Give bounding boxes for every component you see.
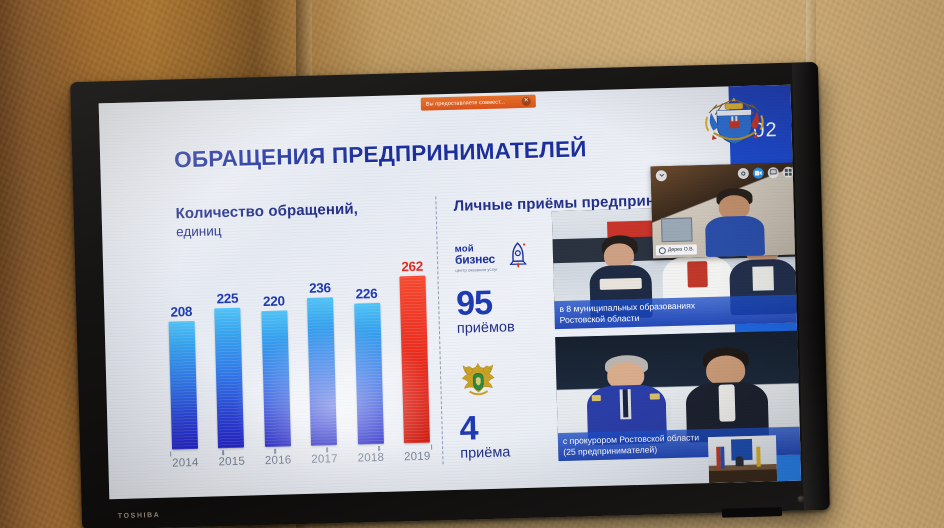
- chart-bar-value: 262: [401, 259, 423, 275]
- video-participant: [704, 187, 765, 257]
- logo-subtitle: центр оказания услуг: [455, 267, 498, 273]
- moy-biznes-logo-text: мой бизнес центр оказания услуг: [455, 243, 498, 273]
- chart-bar: [169, 321, 198, 450]
- video-camera-icon[interactable]: [753, 167, 764, 178]
- inset-desk: [709, 469, 777, 483]
- bar-chart: 208225220236226262 201420152016201720182…: [165, 245, 433, 484]
- grid-view-icon[interactable]: [783, 166, 794, 177]
- stat-caption: приёма: [460, 445, 511, 462]
- video-participant-name-tag: Дерез О.В.: [656, 244, 698, 255]
- chart-tick: [378, 446, 380, 451]
- slide-title: ОБРАЩЕНИЯ ПРЕДПРИНИМАТЕЛЕЙ: [174, 136, 587, 173]
- stat-number: 95: [456, 286, 531, 320]
- chart-bar-value: 220: [263, 293, 285, 309]
- rostov-coat-of-arms-icon: [703, 91, 767, 151]
- chart-bar-group: 225: [211, 250, 246, 449]
- moy-biznes-logo: мой бизнес центр оказания услуг: [455, 242, 530, 280]
- stat-caption: приёмов: [457, 319, 531, 337]
- chart-tick: [326, 447, 328, 452]
- tv-brand-label: TOSHIBA: [118, 512, 161, 520]
- chart-tick: [222, 450, 224, 455]
- chart-bar-value: 236: [309, 280, 331, 296]
- screen-share-text: Вы предоставляете совмест...: [426, 98, 522, 107]
- mic-status-icon: [659, 247, 666, 254]
- logo-line2: бизнес: [455, 252, 498, 267]
- participant-name: Дерез О.В.: [668, 246, 694, 253]
- tv-mount: [722, 507, 782, 518]
- chevron-down-icon[interactable]: [656, 170, 667, 181]
- chart-tick: [170, 452, 172, 457]
- left-heading-line1: Количество обращений,: [175, 200, 358, 222]
- video-call-window[interactable]: Дерез О.В.: [651, 163, 801, 259]
- inset-photo-press-conference: [708, 435, 777, 483]
- stat-block-prosecutor: 4 приёма: [458, 360, 511, 462]
- panel-divider: [435, 196, 443, 464]
- room-background: TOSHIBA 02 ro.ru: [0, 0, 944, 528]
- chart-bar-group: 236: [304, 247, 339, 446]
- chart-x-label: 2018: [356, 452, 386, 465]
- chart-bars: 208225220236226262: [165, 245, 432, 450]
- inset-speaker: [736, 456, 744, 466]
- chart-bar-group: 262: [397, 245, 432, 444]
- chart-bar: [399, 276, 430, 444]
- chart-tick: [274, 449, 276, 454]
- chart-bar-value: 208: [170, 304, 192, 320]
- chart-bar-value: 226: [355, 286, 377, 302]
- gear-icon[interactable]: [738, 167, 749, 178]
- chart-x-label: 2015: [217, 456, 247, 469]
- chart-bar: [261, 310, 291, 447]
- chart-bar-group: 226: [350, 246, 385, 445]
- chart-x-label: 2014: [170, 457, 200, 470]
- chart-tick: [431, 445, 433, 450]
- chart-bar: [215, 308, 245, 449]
- chart-bar-group: 220: [257, 248, 292, 447]
- chart-x-label: 2017: [309, 453, 339, 466]
- chart-bar-value: 225: [216, 291, 238, 307]
- prokuratura-emblem-icon: [458, 361, 499, 400]
- stat-block-moy-biznes: мой бизнес центр оказания услуг 95 приём…: [455, 242, 531, 337]
- wall-picture: [661, 217, 693, 242]
- chart-bar-group: 208: [165, 251, 200, 450]
- tv-screen: 02 ro.ru: [99, 85, 801, 500]
- wall-mounted-tv: TOSHIBA 02 ro.ru: [70, 62, 830, 528]
- rocket-icon: [509, 242, 528, 269]
- chart-bar: [307, 297, 337, 446]
- left-heading-line2: единиц: [176, 219, 359, 239]
- screen-share-notification[interactable]: Вы предоставляете совмест... ✕: [421, 95, 536, 111]
- close-icon[interactable]: ✕: [522, 97, 531, 106]
- stat-number: 4: [459, 411, 510, 445]
- inset-flag-gold: [756, 447, 761, 467]
- photo-bottle: [666, 399, 672, 427]
- chart-x-label: 2019: [402, 451, 432, 464]
- screen-share-icon[interactable]: [768, 167, 779, 178]
- inset-flag-region: [720, 447, 725, 469]
- left-panel-heading: Количество обращений, единиц: [175, 200, 358, 239]
- chart-bar: [354, 303, 384, 445]
- chart-x-label: 2016: [263, 454, 293, 467]
